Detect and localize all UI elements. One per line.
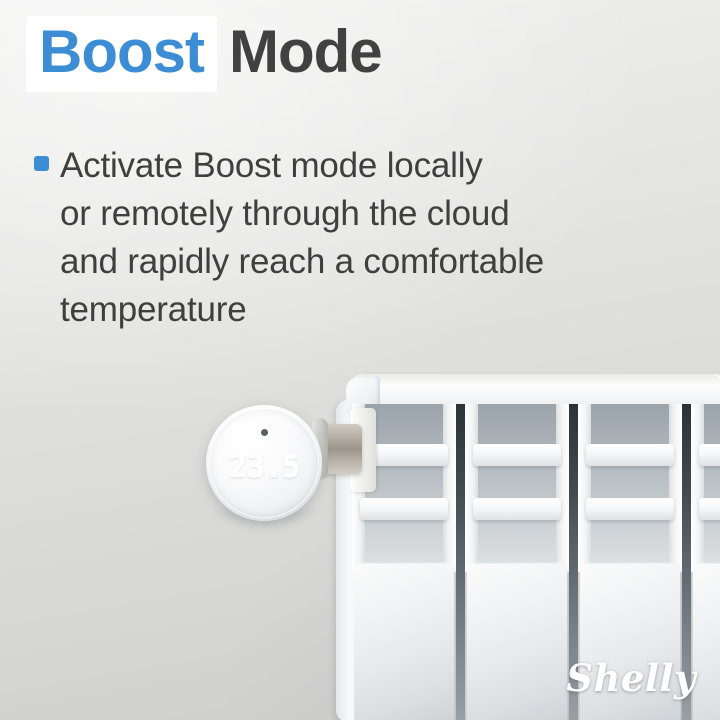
radiator-fin-rib (586, 498, 674, 520)
feature-bullet: Activate Boost mode locally or remotely … (34, 142, 544, 334)
radiator-fin-wall-right (556, 404, 569, 572)
radiator-fin-area (578, 404, 682, 572)
radiator-front-panel (467, 564, 567, 720)
radiator-fin-area (465, 404, 569, 572)
promo-slide: Boost Mode Activate Boost mode locally o… (0, 0, 720, 720)
status-dot-icon (261, 429, 268, 436)
radiator-fin-wall-left (465, 404, 478, 572)
radiator-fin-shadow (465, 404, 569, 572)
radiator-section (465, 404, 569, 720)
bullet-line: temperature (60, 286, 544, 334)
square-bullet-icon (34, 156, 49, 171)
title-highlight-word: Boost (39, 18, 204, 85)
radiator-fin-wall-left (691, 404, 704, 572)
radiator-fin-area (691, 404, 720, 572)
title-rest-word: Mode (229, 22, 382, 86)
title-highlight-box: Boost (26, 16, 217, 92)
radiator-section-gap (456, 404, 465, 720)
radiator-fin-rib (699, 444, 720, 466)
radiator-fin-wall-left (578, 404, 591, 572)
smart-thermostat-head[interactable]: 23.5 (206, 405, 322, 521)
bullet-line: and rapidly reach a comfortable (60, 238, 544, 286)
radiator-fin-rib (473, 498, 561, 520)
radiator-fin-shadow (578, 404, 682, 572)
radiator-fin-wall-right (443, 404, 456, 572)
radiator-fin-wall-right (669, 404, 682, 572)
radiator-fin-rib (360, 498, 448, 520)
shelly-logo: Shelly (566, 656, 696, 700)
radiator-fin-rib (473, 444, 561, 466)
bullet-line: Activate Boost mode locally (60, 142, 544, 190)
radiator-fin-rib (699, 498, 720, 520)
radiator-rail-highlight (354, 374, 720, 386)
page-title: Boost Mode (26, 16, 382, 92)
radiator-front-panel (354, 564, 454, 720)
feature-bullet-text: Activate Boost mode locally or remotely … (60, 142, 544, 334)
radiator-fin-rib (586, 444, 674, 466)
radiator-front-panel (693, 564, 720, 720)
bullet-line: or remotely through the cloud (60, 190, 544, 238)
temperature-display: 23.5 (206, 449, 322, 485)
